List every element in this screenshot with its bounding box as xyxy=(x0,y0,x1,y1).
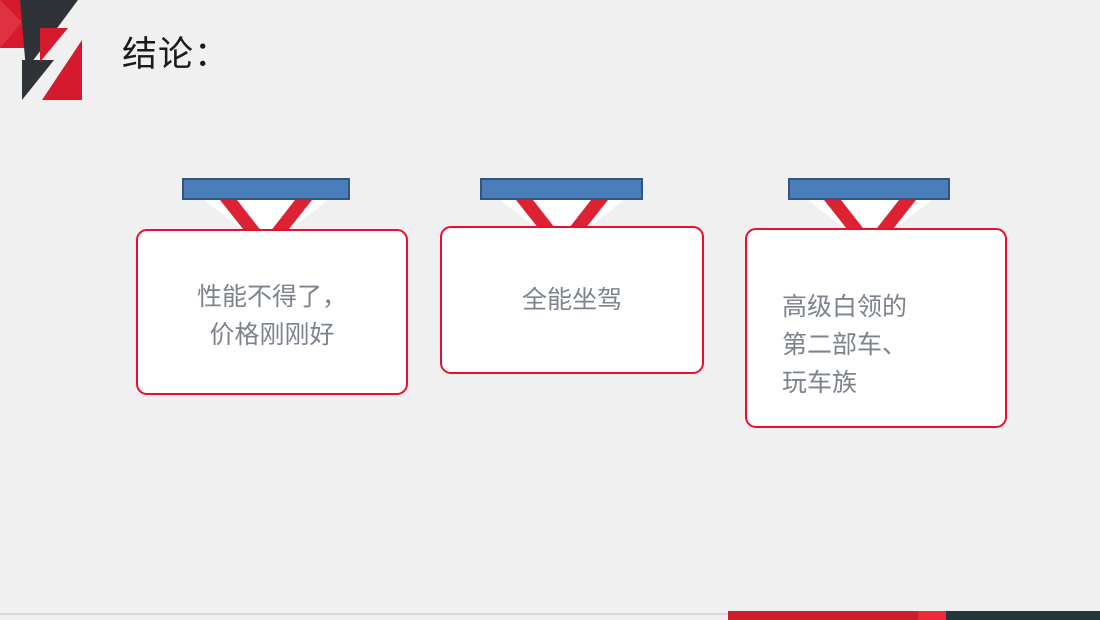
callout-text-3: 高级白领的 第二部车、 玩车族 xyxy=(782,288,997,402)
callout-group-1: 性能不得了， 价格刚刚好 xyxy=(130,178,415,403)
callout-group-3: 高级白领的 第二部车、 玩车族 xyxy=(740,178,1025,433)
footer-accent-red-light xyxy=(918,611,946,620)
logo-icon xyxy=(0,0,92,100)
callout-group-2: 全能坐驾 xyxy=(430,178,715,383)
company-logo-mark xyxy=(0,0,92,100)
slide-canvas: 结论： 性能不得了， 价格刚刚好 全能坐驾 高级白领的 第二部车、 玩车族 xyxy=(0,0,1100,620)
callout-text-1: 性能不得了， 价格刚刚好 xyxy=(146,278,398,354)
callout-header-bar-1[interactable] xyxy=(182,178,350,200)
footer-accent-dark xyxy=(946,611,1100,620)
callout-header-bar-2[interactable] xyxy=(480,178,643,200)
footer-accent-red xyxy=(728,611,918,620)
callout-text-2: 全能坐驾 xyxy=(450,281,694,319)
callout-header-bar-3[interactable] xyxy=(788,178,950,200)
page-title: 结论： xyxy=(122,33,230,77)
